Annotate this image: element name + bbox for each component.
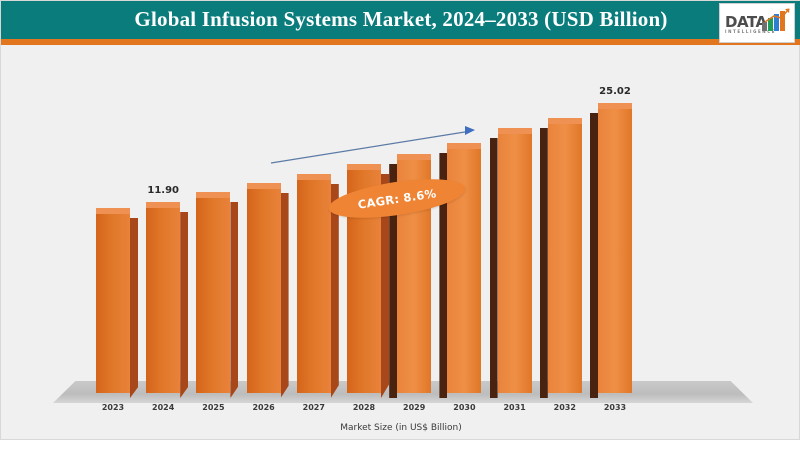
bar-top-face <box>447 143 481 149</box>
x-tick-2023: 2023 <box>88 403 138 412</box>
bar-top-face <box>247 183 281 189</box>
bar-side-face <box>281 193 289 398</box>
bar-front-face <box>498 133 532 393</box>
x-tick-2030: 2030 <box>439 403 489 412</box>
x-axis-title: Market Size (in US$ Billion) <box>1 423 800 433</box>
bar-top-face <box>297 174 331 180</box>
bar-side-face <box>590 113 598 398</box>
bar-2023 <box>96 213 130 393</box>
bar-top-face <box>498 128 532 134</box>
bar-top-face <box>548 118 582 124</box>
bar-2033 <box>598 108 632 393</box>
bar-front-face <box>297 179 331 393</box>
bar-top-face <box>96 208 130 214</box>
bar-top-face <box>347 164 381 170</box>
bar-front-face <box>146 207 180 393</box>
x-tick-2031: 2031 <box>490 403 540 412</box>
bar-side-face <box>490 138 498 398</box>
bar-side-face <box>540 128 548 398</box>
bar-front-face <box>196 197 230 393</box>
bar-side-face <box>180 212 188 398</box>
x-tick-2029: 2029 <box>389 403 439 412</box>
page-title: Global Infusion Systems Market, 2024–203… <box>1 7 800 32</box>
bar-front-face <box>598 108 632 393</box>
bar-2032 <box>548 123 582 393</box>
bar-2026 <box>247 188 281 393</box>
slide-canvas: Global Infusion Systems Market, 2024–203… <box>0 0 800 440</box>
bar-2025 <box>196 197 230 393</box>
bar-2024 <box>146 207 180 393</box>
x-tick-2025: 2025 <box>188 403 238 412</box>
bar-top-face <box>397 154 431 160</box>
header-bar: Global Infusion Systems Market, 2024–203… <box>1 1 800 45</box>
x-tick-2024: 2024 <box>138 403 188 412</box>
x-tick-2026: 2026 <box>239 403 289 412</box>
bar-top-face <box>598 103 632 109</box>
bar-side-face <box>130 218 138 398</box>
x-tick-2032: 2032 <box>540 403 590 412</box>
bar-2031 <box>498 133 532 393</box>
x-tick-2033: 2033 <box>590 403 640 412</box>
bar-top-face <box>196 192 230 198</box>
bar-value-label-2033: 25.02 <box>585 86 645 97</box>
x-tick-2028: 2028 <box>339 403 389 412</box>
bar-front-face <box>247 188 281 393</box>
bar-value-label-2024: 11.90 <box>133 185 193 196</box>
bar-series: 202311.902024202520262027202820292030203… <box>1 51 800 441</box>
brand-logo: DATA INTELLIGENCE <box>719 3 795 43</box>
bar-top-face <box>146 202 180 208</box>
chart-plot-area: 202311.902024202520262027202820292030203… <box>1 51 800 441</box>
bar-front-face <box>96 213 130 393</box>
logo-trend-arrow-icon <box>764 8 790 24</box>
x-tick-2027: 2027 <box>289 403 339 412</box>
bar-side-face <box>230 202 238 398</box>
bar-2027 <box>297 179 331 393</box>
bar-front-face <box>548 123 582 393</box>
